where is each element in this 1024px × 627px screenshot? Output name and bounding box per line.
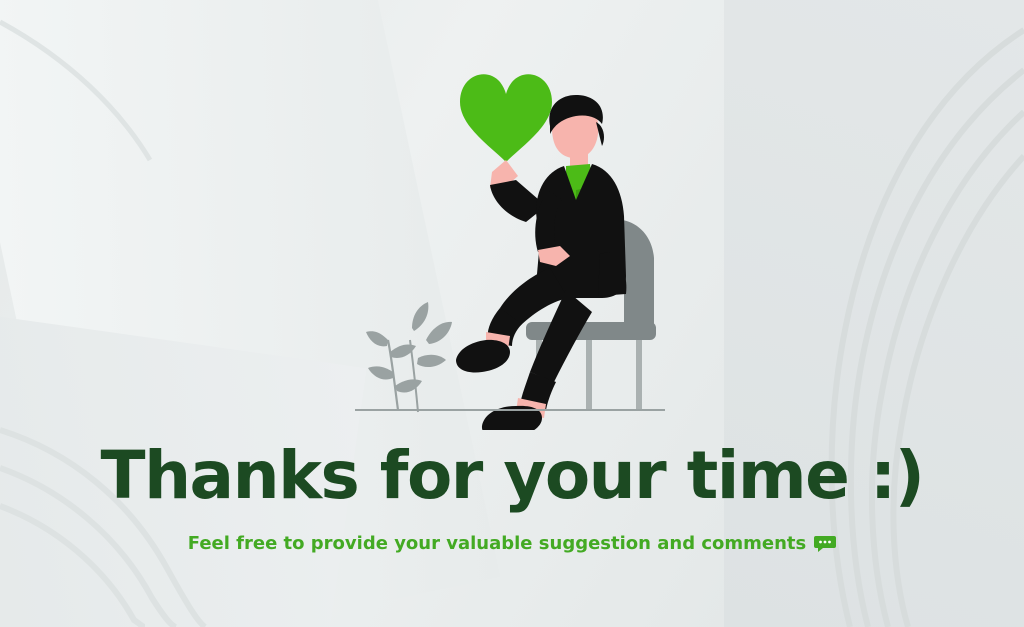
thank-you-slide: Thanks for your time :) Feel free to pro…: [0, 0, 1024, 627]
subtitle: Feel free to provide your valuable sugge…: [0, 533, 1024, 557]
plant-icon: [366, 302, 452, 412]
subtitle-text: Feel free to provide your valuable sugge…: [188, 533, 806, 554]
floor-line: [355, 409, 665, 411]
page-title: Thanks for your time :): [0, 437, 1024, 514]
seated-person-illustration: [340, 40, 700, 430]
person-figure: [456, 95, 626, 430]
heart-icon: [460, 74, 552, 162]
chat-bubble-icon: [814, 534, 836, 557]
